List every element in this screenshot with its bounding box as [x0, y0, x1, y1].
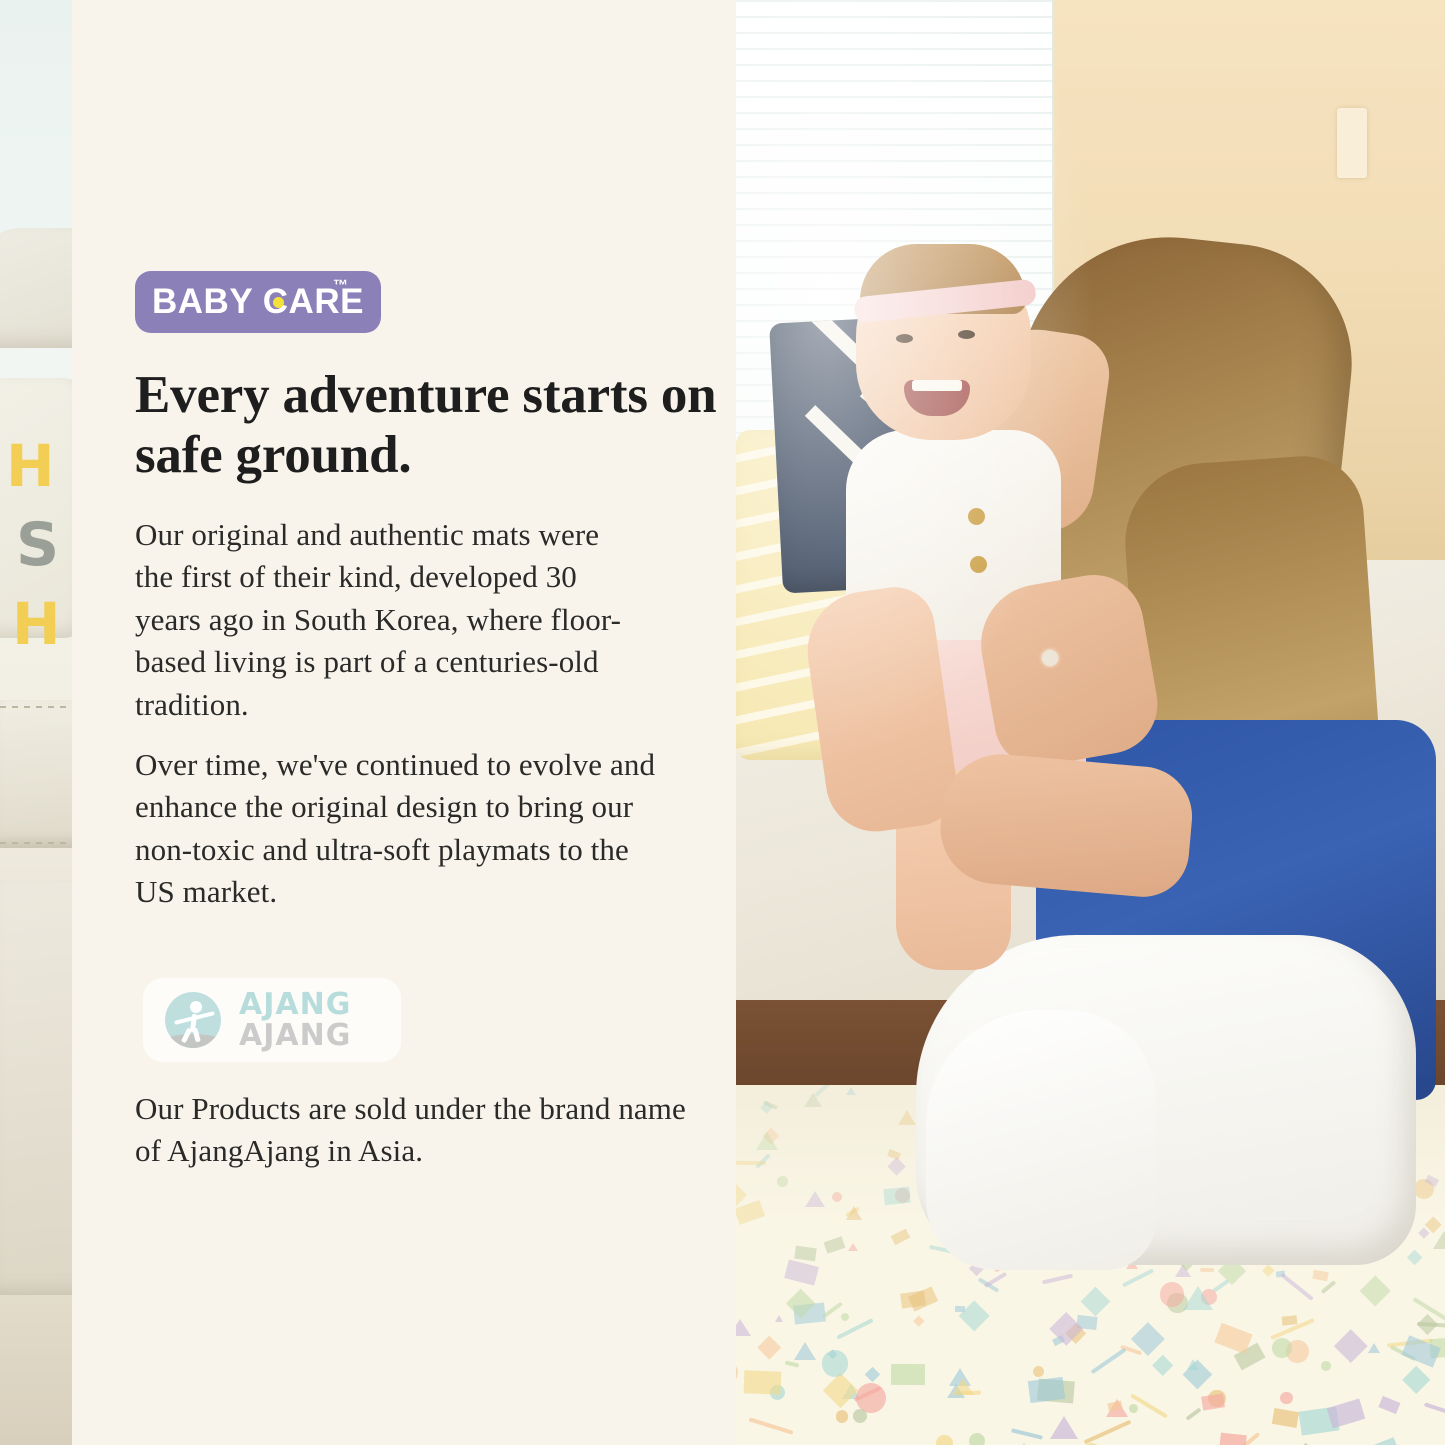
playmat-shape [969, 1433, 986, 1445]
playmat-shape [1183, 1286, 1213, 1310]
playmat-shape [936, 1435, 953, 1445]
babycare-yellow-dot-icon [273, 297, 284, 308]
playmat-shape [955, 1306, 965, 1312]
playmat-shape [804, 1093, 822, 1107]
playmat-shape [775, 1315, 783, 1322]
baby-teeth [912, 380, 962, 391]
playmat-shape [777, 1176, 788, 1187]
ajangajang-logo: AJANG AJANG [143, 978, 401, 1062]
ajang-hill-shape [165, 1034, 221, 1048]
playmat-shape [1050, 1416, 1078, 1439]
ajang-child-figure-icon [165, 992, 221, 1048]
playmat-shape [846, 1087, 856, 1095]
left-strip-stitching-lower [0, 842, 72, 844]
playmat-shape [836, 1410, 849, 1423]
content-panel: BABY CARE ™ Every adventure starts on sa… [72, 0, 736, 1445]
playmat-shape [1028, 1377, 1065, 1403]
playmat-shape [1129, 1404, 1138, 1413]
left-strip-sofa-seat-lower [0, 880, 72, 1300]
playmat-shape [898, 1110, 916, 1125]
body-paragraph-3: Our Products are sold under the brand na… [135, 1088, 695, 1173]
playmat-shape [1368, 1343, 1380, 1353]
pillow-letter-s: S [16, 510, 59, 580]
page-title: Every adventure starts on safe ground. [135, 365, 725, 486]
playmat-shape [805, 1191, 825, 1207]
lifestyle-photo [736, 0, 1445, 1445]
wedding-ring [1042, 650, 1058, 666]
ajang-line-2: AJANG [239, 1021, 351, 1052]
babycare-text-before-c: BABY [152, 282, 263, 321]
ajang-figure-head [190, 1001, 202, 1013]
left-strip-floor [0, 1295, 72, 1445]
ajangajang-wordmark: AJANG AJANG [239, 990, 351, 1051]
playmat-shape [1433, 1231, 1445, 1249]
playmat-shape [1160, 1282, 1184, 1306]
left-strip-sofa-seat-upper [0, 700, 72, 848]
playmat-shape [832, 1192, 842, 1202]
playmat-shape [736, 1161, 766, 1165]
baby-eye-left [896, 334, 913, 343]
playmat-shape [736, 1319, 751, 1336]
playmat-shape [794, 1342, 816, 1360]
playmat-shape [1280, 1392, 1292, 1404]
baby-top-button-upper [968, 508, 985, 525]
playmat-shape [853, 1409, 867, 1423]
pillow-letter-h-top: H [6, 432, 55, 500]
left-strip-stitching-upper [0, 706, 72, 708]
light-switch [1337, 108, 1367, 178]
body-paragraph-2: Over time, we've continued to evolve and… [135, 744, 675, 914]
playmat-shape [1200, 1268, 1214, 1272]
playmat-shape [891, 1364, 925, 1385]
pillow-letter-h-bottom: H [12, 590, 61, 658]
babycare-logo: BABY CARE ™ [135, 271, 381, 333]
mother-knee [926, 1010, 1156, 1270]
mother-arm [936, 749, 1196, 900]
playmat-shape [1187, 1359, 1199, 1370]
left-strip-sofa-back [0, 228, 72, 348]
body-paragraph-1: Our original and authentic mats were the… [135, 514, 645, 726]
poster-canvas: H S H BABY CARE ™ Every adventure starts… [0, 0, 1445, 1445]
playmat-shape [846, 1206, 862, 1220]
playmat-shape [1321, 1361, 1331, 1371]
playmat-shape [1033, 1366, 1044, 1377]
playmat-shape [744, 1371, 781, 1395]
playmat-shape [1220, 1432, 1248, 1445]
playmat-shape [756, 1132, 778, 1150]
playmat-shape [883, 1187, 910, 1206]
baby-eye-right [958, 330, 975, 339]
babycare-text-after-c: ARE [289, 282, 364, 321]
baby-top-button-lower [970, 556, 987, 573]
trademark-symbol: ™ [333, 277, 348, 294]
playmat-shape [952, 1378, 974, 1395]
babycare-c-with-dot: C [263, 282, 289, 322]
playmat-shape [822, 1350, 848, 1376]
left-photo-strip: H S H [0, 0, 72, 1445]
playmat-shape [848, 1243, 858, 1251]
ajang-line-1: AJANG [239, 990, 351, 1021]
